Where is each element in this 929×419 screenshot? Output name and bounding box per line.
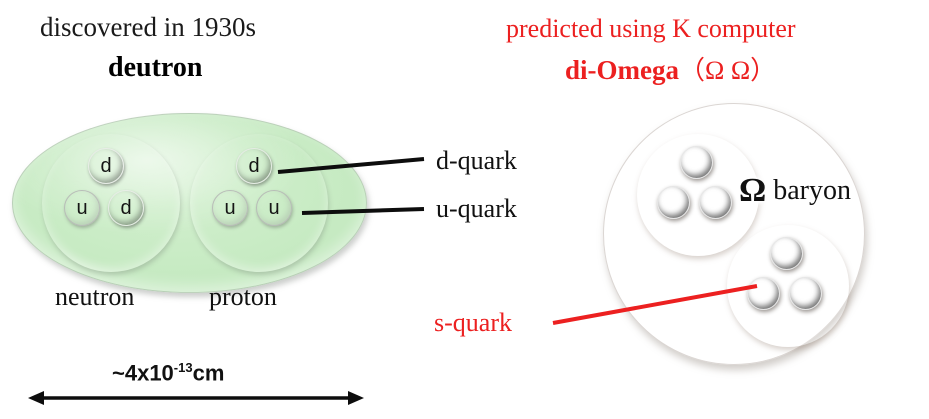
omega-baryon-label: Ωbaryon <box>739 172 851 210</box>
right-panel-title-paren: （Ω Ω） <box>679 56 776 85</box>
quark-s: s <box>770 237 803 270</box>
scale-exponent: -13 <box>174 360 193 375</box>
quark-d: d <box>236 148 272 184</box>
quark-d: d <box>88 148 124 184</box>
scale-arrow <box>28 391 364 405</box>
right-panel-subtitle: predicted using K computer <box>506 16 796 42</box>
right-panel-title-text: di-Omega <box>565 55 679 85</box>
d-quark-callout-label: d-quark <box>436 146 517 176</box>
quark-s: s <box>789 277 822 310</box>
scale-prefix: ~4x10 <box>112 360 174 385</box>
scale-bar-label: ~4x10-13cm <box>112 360 224 386</box>
quark-s: s <box>747 277 780 310</box>
quark-u: u <box>64 190 100 226</box>
diagram-canvas: discovered in 1930s deutron predicted us… <box>0 0 929 419</box>
quark-u: u <box>212 190 248 226</box>
scale-unit: cm <box>193 360 225 385</box>
proton-label: proton <box>209 282 277 312</box>
right-panel-title: di-Omega（Ω Ω） <box>565 57 776 84</box>
left-panel-title: deutron <box>108 54 202 82</box>
quark-u: u <box>256 190 292 226</box>
proton-sphere: d u u <box>190 134 328 272</box>
quark-d: d <box>108 190 144 226</box>
baryon-word: baryon <box>773 175 851 206</box>
u-quark-callout-label: u-quark <box>436 194 517 224</box>
quark-s: s <box>657 186 690 219</box>
s-quark-callout-label: s-quark <box>434 308 512 338</box>
quark-s: s <box>699 186 732 219</box>
neutron-label: neutron <box>55 282 134 312</box>
omega-baryon-sphere: s s s <box>727 225 849 347</box>
omega-symbol: Ω <box>739 172 766 209</box>
neutron-sphere: d u d <box>42 134 180 272</box>
quark-s: s <box>680 146 713 179</box>
left-panel-subtitle: discovered in 1930s <box>40 14 256 41</box>
